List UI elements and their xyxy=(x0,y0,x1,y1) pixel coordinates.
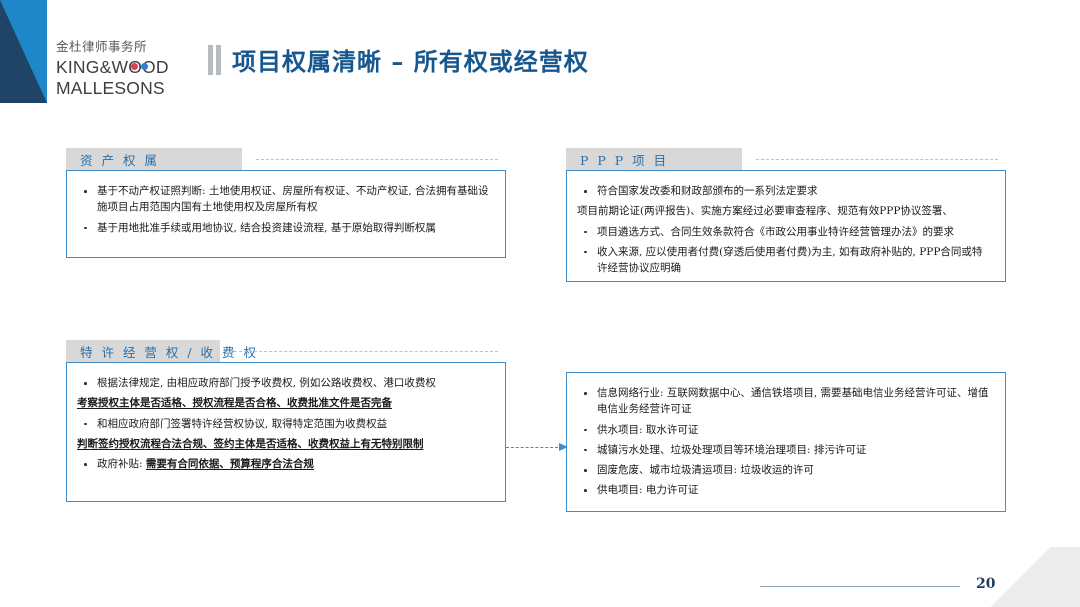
panel-franchise-list: 根据法律规定, 由相应政府部门授予收费权, 例如公路收费权、港口收费权 考察授权… xyxy=(77,375,491,472)
list-item: 供电项目: 电力许可证 xyxy=(577,482,991,498)
list-item: 收入来源, 应以使用者付费(穿透后使用者付费)为主, 如有政府补贴的, PPP合… xyxy=(577,244,991,277)
logo-chinese-name: 金杜律师事务所 xyxy=(56,40,180,56)
panel-ppp-tab: P P P 项 目 xyxy=(566,148,742,170)
panel-franchise-tab-label: 特 许 经 营 权 / 收 费 权 xyxy=(80,342,259,361)
logo-en-part-c: D xyxy=(156,57,169,77)
list-item: 固废危废、城市垃圾清运项目: 垃圾收运的许可 xyxy=(577,462,991,478)
panel-asset-body: 基于不动产权证照判断: 土地使用权证、房屋所有权证、不动产权证, 合法拥有基础设… xyxy=(66,170,506,258)
panel-asset-ownership: 资 产 权 属 基于不动产权证照判断: 土地使用权证、房屋所有权证、不动产权证,… xyxy=(66,148,506,258)
panel-asset-tab: 资 产 权 属 xyxy=(66,148,242,170)
connector-line xyxy=(506,447,558,448)
slide-title: 项目权属清晰 – 所有权或经营权 xyxy=(232,42,589,77)
panel-ppp-dotted-rule xyxy=(756,159,998,160)
panel-license-requirements: 信息网络行业: 互联网数据中心、通信铁塔项目, 需要基础电信业务经营许可证、增值… xyxy=(566,372,1006,512)
logo-en-part-a: KING&W xyxy=(56,57,128,77)
list-item: 项目遴选方式、合同生效条款符合《市政公用事业特许经营管理办法》的要求 xyxy=(577,224,991,240)
slide-title-row: 项目权属清晰 – 所有权或经营权 xyxy=(208,42,589,77)
panel-asset-list: 基于不动产权证照判断: 土地使用权证、房屋所有权证、不动产权证, 合法拥有基础设… xyxy=(77,183,491,236)
panel-asset-header: 资 产 权 属 xyxy=(66,148,506,170)
list-item-mixed: 政府补贴: 需要有合同依据、预算程序合法合规 xyxy=(77,456,491,472)
list-item: 项目前期论证(两评报告)、实施方案经过必要审查程序、规范有效PPP协议签署、 xyxy=(577,203,991,219)
list-item: 供水项目: 取水许可证 xyxy=(577,422,991,438)
panel-license-body: 信息网络行业: 互联网数据中心、通信铁塔项目, 需要基础电信业务经营许可证、增值… xyxy=(566,372,1006,512)
panel-ppp-header: P P P 项 目 xyxy=(566,148,1006,170)
footer-rule xyxy=(760,586,960,587)
title-bars-icon xyxy=(208,45,221,75)
list-item: 根据法律规定, 由相应政府部门授予收费权, 例如公路收费权、港口收费权 xyxy=(77,375,491,391)
panel-franchise-dotted-rule xyxy=(234,351,498,352)
list-item: 基于用地批准手续或用地协议, 结合投资建设流程, 基于原始取得判断权属 xyxy=(77,220,491,236)
corner-decoration xyxy=(0,0,47,103)
list-item-label: 政府补贴: xyxy=(97,458,146,470)
logo-dot-blue-icon xyxy=(141,63,148,70)
firm-logo: 金杜律师事务所 KING&WOOD MALLESONS xyxy=(56,40,180,99)
panel-franchise-header: 特 许 经 营 权 / 收 费 权 xyxy=(66,340,506,362)
panel-ppp-body: 符合国家发改委和财政部颁布的一系列法定要求 项目前期论证(两评报告)、实施方案经… xyxy=(566,170,1006,282)
list-item-emphasis: 判断签约授权流程合法合规、签约主体是否适格、收费权益上有无特别限制 xyxy=(77,436,491,452)
logo-english-line1: KING&WOOD xyxy=(56,57,180,78)
connector-arrow xyxy=(506,443,568,452)
panel-ppp-tab-label: P P P 项 目 xyxy=(580,150,669,169)
panel-license-list: 信息网络行业: 互联网数据中心、通信铁塔项目, 需要基础电信业务经营许可证、增值… xyxy=(577,385,991,499)
panel-franchise-body: 根据法律规定, 由相应政府部门授予收费权, 例如公路收费权、港口收费权 考察授权… xyxy=(66,362,506,502)
list-item: 信息网络行业: 互联网数据中心、通信铁塔项目, 需要基础电信业务经营许可证、增值… xyxy=(577,385,991,418)
panel-asset-tab-label: 资 产 权 属 xyxy=(80,150,159,169)
panel-ppp-list: 符合国家发改委和财政部颁布的一系列法定要求 项目前期论证(两评报告)、实施方案经… xyxy=(577,183,991,276)
panel-franchise-rights: 特 许 经 营 权 / 收 费 权 根据法律规定, 由相应政府部门授予收费权, … xyxy=(66,340,506,502)
logo-oo-mark: OO xyxy=(128,57,156,78)
list-item: 基于不动产权证照判断: 土地使用权证、房屋所有权证、不动产权证, 合法拥有基础设… xyxy=(77,183,491,216)
logo-english-line2: MALLESONS xyxy=(56,78,180,99)
panel-franchise-tab: 特 许 经 营 权 / 收 费 权 xyxy=(66,340,220,362)
footer-corner-shade xyxy=(990,547,1080,607)
list-item: 和相应政府部门签署特许经营权协议, 取得特定范围为收费权益 xyxy=(77,416,491,432)
panel-ppp-project: P P P 项 目 符合国家发改委和财政部颁布的一系列法定要求 项目前期论证(两… xyxy=(566,148,1006,282)
list-item-emphasis: 考察授权主体是否适格、授权流程是否合格、收费批准文件是否完备 xyxy=(77,395,491,411)
list-item: 符合国家发改委和财政部颁布的一系列法定要求 xyxy=(577,183,991,199)
panel-asset-dotted-rule xyxy=(256,159,498,160)
list-item-emphasis-text: 需要有合同依据、预算程序合法合规 xyxy=(146,458,314,470)
logo-dot-red-icon xyxy=(131,63,138,70)
list-item: 城镇污水处理、垃圾处理项目等环境治理项目: 排污许可证 xyxy=(577,442,991,458)
